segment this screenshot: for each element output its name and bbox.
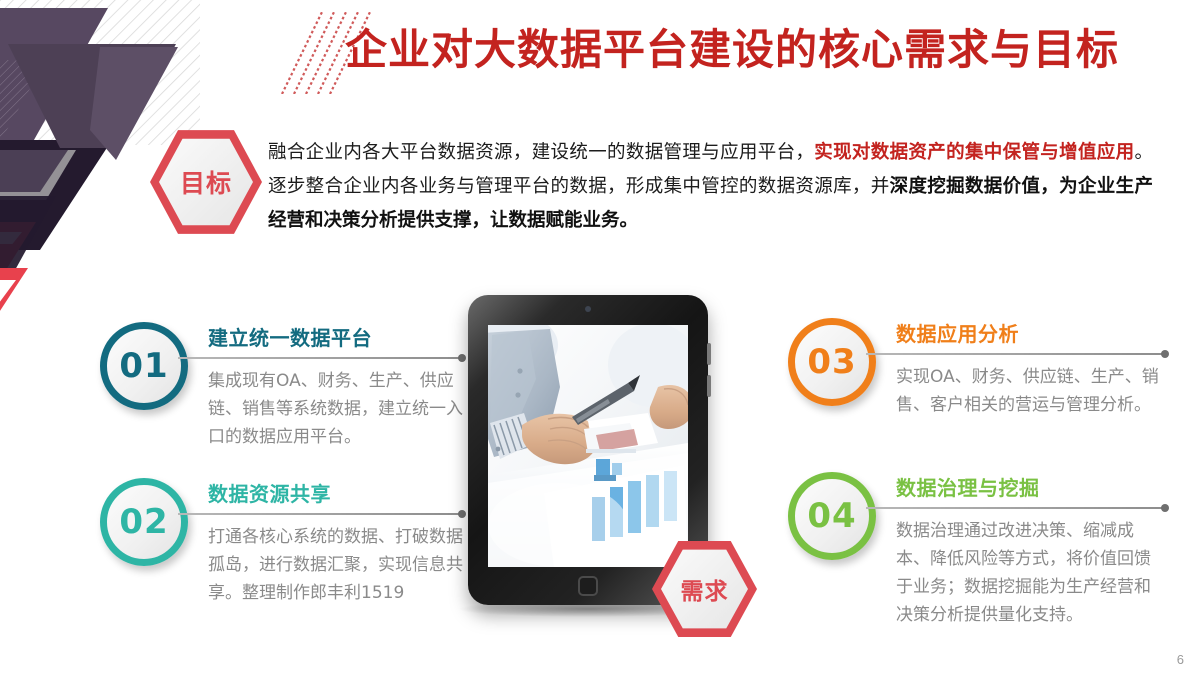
item-03-number: 03: [807, 342, 856, 382]
item-01-title: 建立统一数据平台: [208, 322, 463, 351]
need-badge: 需求: [652, 539, 757, 639]
item-04-description: 数据治理通过改进决策、缩减成本、降低风险等方式，将价值回馈于业务；数据挖掘能为生…: [896, 517, 1164, 629]
item-01-body: 建立统一数据平台 集成现有OA、财务、生产、供应链、销售等系统数据，建立统一入口…: [208, 322, 463, 451]
item-02-rule: [178, 513, 463, 515]
item-01-number: 01: [119, 346, 168, 386]
goal-badge-label: 目标: [180, 164, 232, 200]
item-03-number-circle: 03: [788, 318, 876, 406]
business-meeting-photo: [488, 325, 688, 567]
item-02-description: 打通各核心系统的数据、打破数据孤岛，进行数据汇聚，实现信息共享。整理制作郎丰利1…: [208, 523, 463, 607]
goal-paragraph: 融合企业内各大平台数据资源，建设统一的数据管理与应用平台，实现对数据资产的集中保…: [268, 136, 1153, 238]
tablet-home-button[interactable]: [578, 576, 598, 596]
item-02-number: 02: [119, 502, 168, 542]
item-03-description: 实现OA、财务、供应链、生产、销售、客户相关的营运与管理分析。: [896, 363, 1164, 419]
item-01-rule: [178, 357, 463, 359]
goal-badge: 目标: [150, 128, 262, 236]
item-03-body: 数据应用分析 实现OA、财务、供应链、生产、销售、客户相关的营运与管理分析。: [896, 318, 1164, 419]
item-04-body: 数据治理与挖掘 数据治理通过改进决策、缩减成本、降低风险等方式，将价值回馈于业务…: [896, 472, 1164, 629]
item-04-title: 数据治理与挖掘: [896, 472, 1164, 501]
item-03-title: 数据应用分析: [896, 318, 1164, 347]
goal-paragraph-part-1: 实现对数据资产的集中保管与增值应用: [814, 142, 1134, 163]
need-badge-label: 需求: [681, 572, 729, 606]
tablet-camera-icon: [585, 306, 591, 312]
tablet-side-button-bottom: [707, 375, 711, 397]
item-02-body: 数据资源共享 打通各核心系统的数据、打破数据孤岛，进行数据汇聚，实现信息共享。整…: [208, 478, 463, 607]
page-title: 企业对大数据平台建设的核心需求与目标: [345, 16, 1119, 77]
item-03-rule: [866, 353, 1166, 355]
item-01-number-circle: 01: [100, 322, 188, 410]
item-04-rule: [866, 507, 1166, 509]
item-04-number: 04: [807, 496, 856, 536]
tablet-side-button-top: [707, 343, 711, 365]
goal-paragraph-part-0: 融合企业内各大平台数据资源，建设统一的数据管理与应用平台，: [268, 142, 814, 163]
item-04-number-circle: 04: [788, 472, 876, 560]
item-02-number-circle: 02: [100, 478, 188, 566]
tablet-screen: [488, 325, 688, 567]
item-02-title: 数据资源共享: [208, 478, 463, 507]
page-number: 6: [1177, 652, 1184, 667]
item-01-description: 集成现有OA、财务、生产、供应链、销售等系统数据，建立统一入口的数据应用平台。: [208, 367, 463, 451]
